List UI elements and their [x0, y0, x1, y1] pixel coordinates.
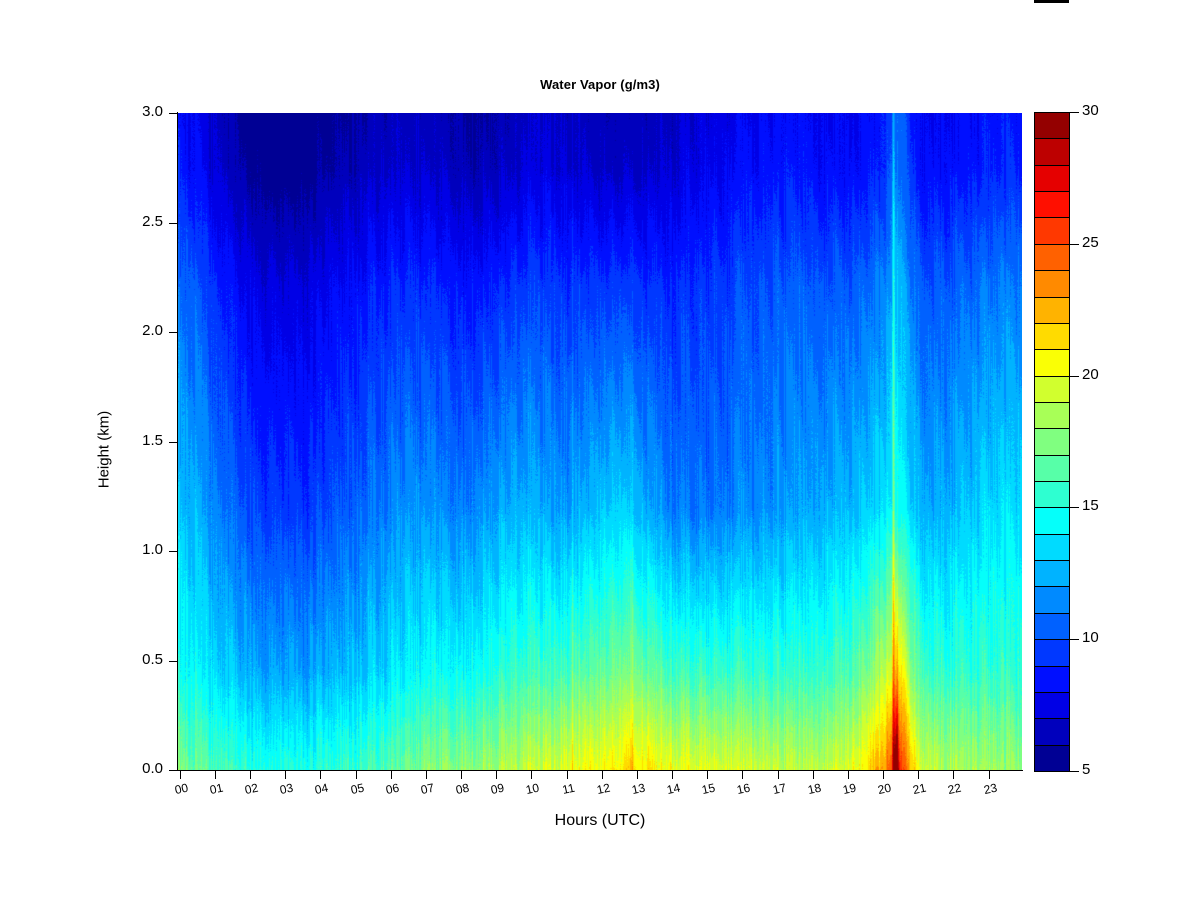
colorbar-cell	[1034, 297, 1070, 324]
x-axis-line	[178, 770, 1023, 771]
colorbar-cell	[1034, 323, 1070, 350]
colorbar-cell	[1034, 455, 1070, 482]
colorbar-cell	[1034, 191, 1070, 218]
x-tick-08	[461, 771, 462, 779]
colorbar-label-30: 30	[1082, 102, 1099, 119]
colorbar-cell	[1034, 138, 1070, 165]
x-tick-14	[672, 771, 673, 779]
x-tick-02	[250, 771, 251, 779]
y-tick-2.0	[169, 332, 177, 333]
y-axis-line	[177, 112, 178, 771]
x-tick-00	[180, 771, 181, 779]
x-axis-title: Hours (UTC)	[178, 812, 1022, 830]
colorbar-cell	[1034, 534, 1070, 561]
colorbar-label-5: 5	[1082, 761, 1090, 778]
colorbar-tick-25	[1070, 244, 1079, 245]
colorbar-cell	[1034, 507, 1070, 534]
y-tick-label-2.5: 2.5	[142, 213, 163, 230]
colorbar-cell	[1034, 481, 1070, 508]
colorbar-cell	[1034, 560, 1070, 587]
water-vapor-contour-figure: Water Vapor (g/m3) 000102030405060708091…	[0, 0, 1200, 900]
colorbar-cell	[1034, 217, 1070, 244]
x-tick-11	[567, 771, 568, 779]
x-tick-15	[707, 771, 708, 779]
colorbar-cell	[1034, 613, 1070, 640]
colorbar-cell	[1034, 244, 1070, 271]
y-tick-label-1.0: 1.0	[142, 541, 163, 558]
colorbar-tick-10	[1070, 639, 1079, 640]
x-tick-23	[989, 771, 990, 779]
heatmap-canvas	[178, 113, 1022, 770]
colorbar-cell	[1034, 112, 1070, 139]
x-tick-label-23: 23	[969, 778, 1011, 800]
x-tick-05	[356, 771, 357, 779]
colorbar-tick-30	[1070, 112, 1079, 113]
x-tick-16	[742, 771, 743, 779]
y-tick-0.0	[169, 770, 177, 771]
colorbar-cell	[1034, 639, 1070, 666]
colorbar-cell	[1034, 270, 1070, 297]
y-tick-3.0	[169, 113, 177, 114]
x-tick-07	[426, 771, 427, 779]
x-tick-18	[813, 771, 814, 779]
colorbar-label-15: 15	[1082, 497, 1099, 514]
colorbar-tick-15	[1070, 507, 1079, 508]
x-tick-17	[778, 771, 779, 779]
colorbar	[1034, 112, 1070, 771]
colorbar-cell	[1034, 745, 1070, 772]
x-tick-04	[320, 771, 321, 779]
x-tick-09	[496, 771, 497, 779]
plot-area	[178, 113, 1022, 770]
colorbar-cell	[1034, 718, 1070, 745]
y-tick-label-1.5: 1.5	[142, 432, 163, 449]
x-tick-13	[637, 771, 638, 779]
x-tick-10	[531, 771, 532, 779]
top-edge-artifact	[1034, 0, 1069, 3]
colorbar-cell	[1034, 165, 1070, 192]
colorbar-label-10: 10	[1082, 629, 1099, 646]
y-tick-label-0.0: 0.0	[142, 760, 163, 777]
colorbar-cell	[1034, 428, 1070, 455]
colorbar-tick-5	[1070, 771, 1079, 772]
colorbar-cell	[1034, 349, 1070, 376]
colorbar-tick-20	[1070, 376, 1079, 377]
colorbar-cell	[1034, 402, 1070, 429]
y-tick-0.5	[169, 661, 177, 662]
x-tick-22	[953, 771, 954, 779]
x-tick-01	[215, 771, 216, 779]
x-tick-03	[285, 771, 286, 779]
x-tick-06	[391, 771, 392, 779]
colorbar-cell	[1034, 376, 1070, 403]
colorbar-cell	[1034, 666, 1070, 693]
y-tick-2.5	[169, 223, 177, 224]
y-tick-label-3.0: 3.0	[142, 103, 163, 120]
y-axis-title: Height (km)	[96, 390, 113, 510]
colorbar-cell	[1034, 586, 1070, 613]
colorbar-cell	[1034, 692, 1070, 719]
x-tick-20	[883, 771, 884, 779]
y-tick-1.0	[169, 551, 177, 552]
page-title: Water Vapor (g/m3)	[178, 77, 1022, 92]
x-tick-21	[918, 771, 919, 779]
colorbar-label-25: 25	[1082, 234, 1099, 251]
x-tick-19	[848, 771, 849, 779]
y-tick-label-2.0: 2.0	[142, 322, 163, 339]
colorbar-label-20: 20	[1082, 366, 1099, 383]
x-tick-12	[602, 771, 603, 779]
y-tick-label-0.5: 0.5	[142, 651, 163, 668]
y-tick-1.5	[169, 442, 177, 443]
